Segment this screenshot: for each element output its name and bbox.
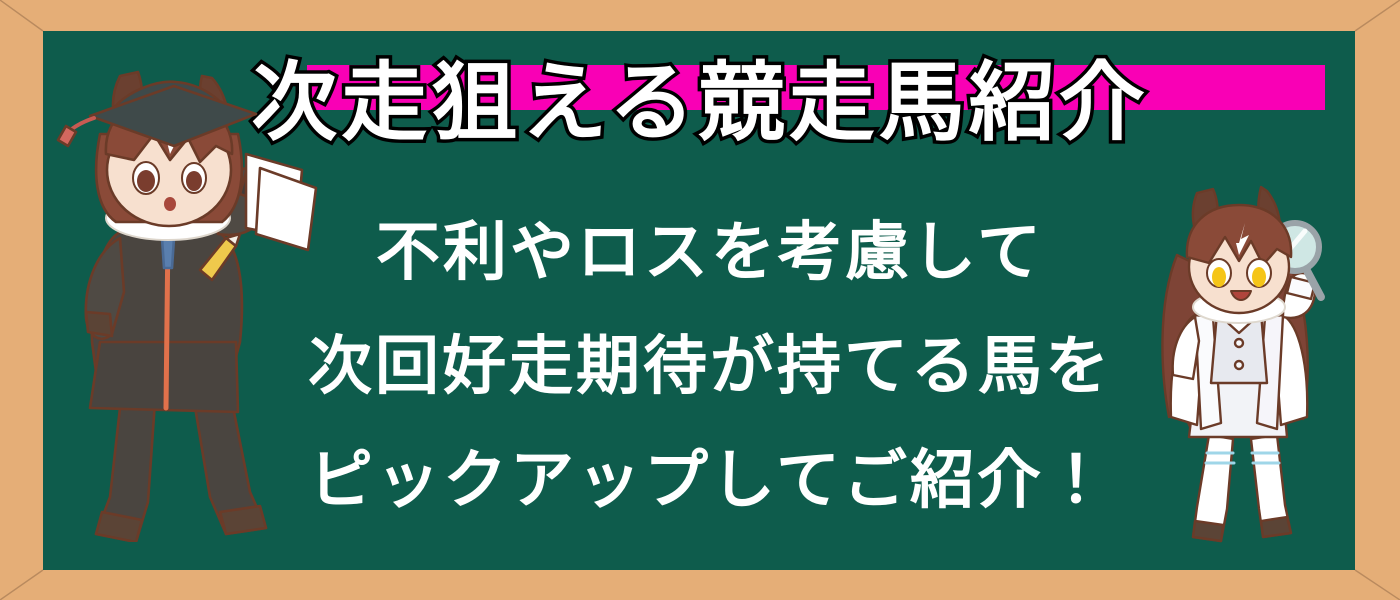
banner-root: 次走狙える競走馬紹介 不利やロスを考慮して 次回好走期待が持てる馬を ピックアッ… — [0, 0, 1400, 600]
pupil-right — [186, 171, 202, 191]
copy-line-1: 不利やロスを考慮して — [300, 196, 1120, 310]
character-professor — [50, 42, 320, 542]
shoe-left — [1193, 521, 1223, 541]
page-title: 次走狙える競走馬紹介 — [251, 60, 1148, 146]
shoe-right — [1261, 517, 1291, 537]
shoe-right — [220, 506, 266, 534]
character-assistant — [1135, 185, 1370, 565]
paper-front — [256, 168, 316, 250]
pupil-left — [1212, 267, 1226, 287]
vest-button-top — [1235, 339, 1243, 347]
pupil-right — [1252, 267, 1266, 287]
cuff-left — [86, 312, 112, 336]
vest-button-bottom — [1235, 361, 1243, 369]
copy-line-2: 次回好走期待が持てる馬を — [300, 310, 1120, 424]
cap-tassel — [58, 126, 76, 146]
body-copy: 不利やロスを考慮して 次回好走期待が持てる馬を ピックアップしてご紹介！ — [300, 196, 1120, 538]
mouth — [164, 197, 176, 211]
pupil-left — [137, 170, 155, 192]
copy-line-3: ピックアップしてご紹介！ — [300, 424, 1120, 538]
necktie — [162, 238, 174, 268]
